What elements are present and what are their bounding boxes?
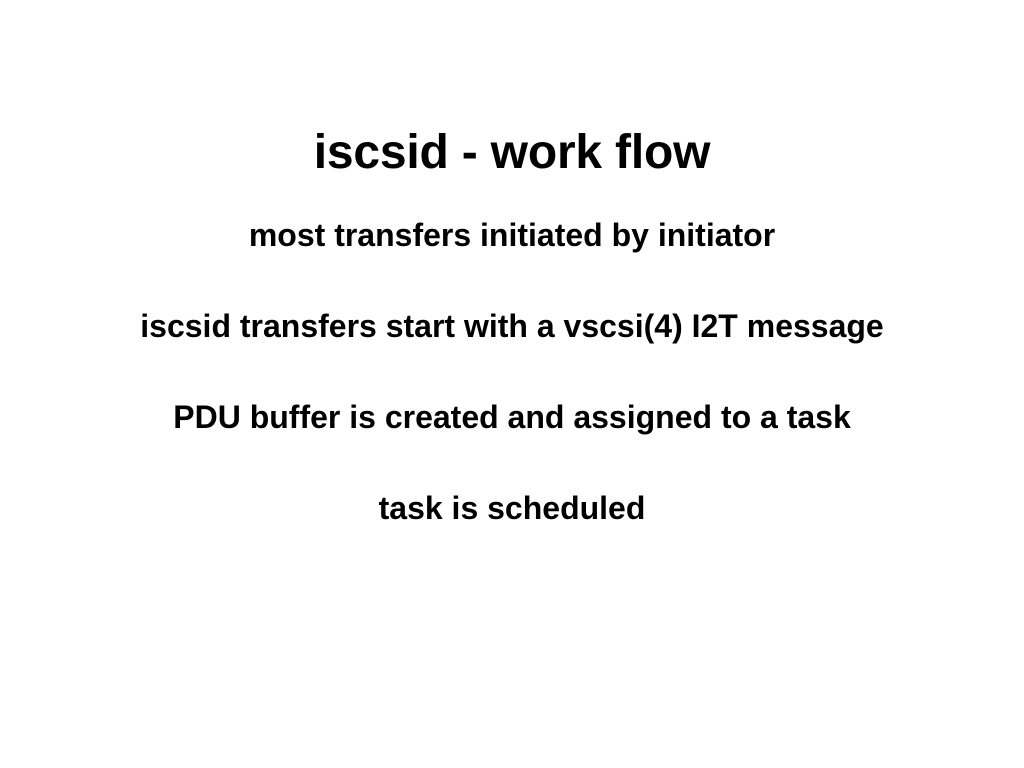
body-line: PDU buffer is created and assigned to a … bbox=[0, 396, 1024, 487]
body-line: most transfers initiated by initiator bbox=[0, 214, 1024, 305]
body-line: iscsid transfers start with a vscsi(4) I… bbox=[0, 305, 1024, 396]
presentation-slide: iscsid - work flow most transfers initia… bbox=[0, 0, 1024, 768]
slide-title: iscsid - work flow bbox=[0, 124, 1024, 182]
slide-body: most transfers initiated by initiator is… bbox=[0, 214, 1024, 529]
body-line: task is scheduled bbox=[0, 487, 1024, 529]
